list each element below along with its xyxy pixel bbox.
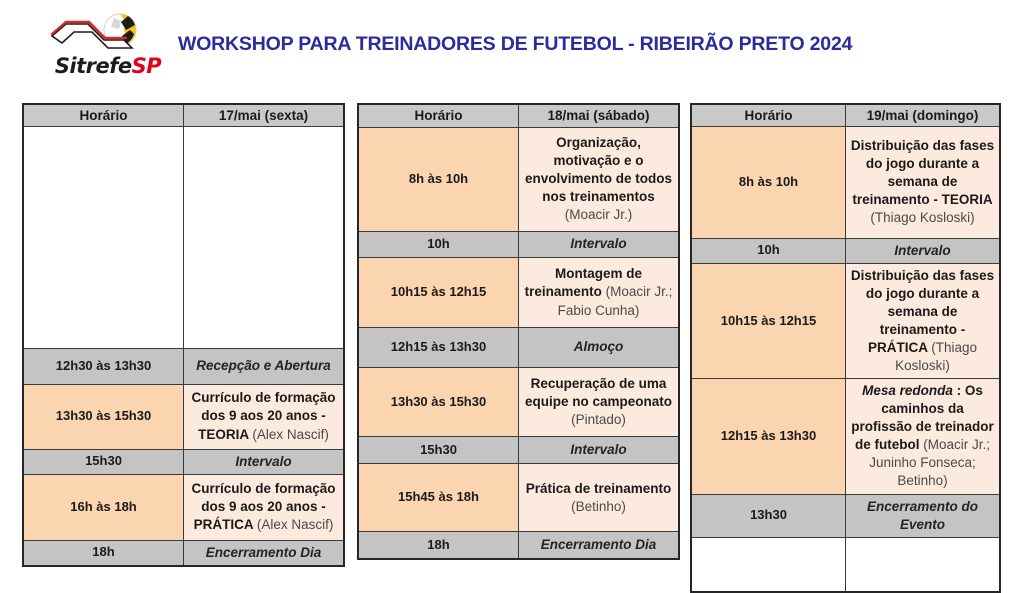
table-header-row: Horário19/mai (domingo) <box>691 104 1000 126</box>
table-sunday: Horário19/mai (domingo)8h às 10hDistribu… <box>690 103 1001 593</box>
cell-activity <box>184 126 345 348</box>
activity-text-segment: (Alex Nascif) <box>257 517 334 532</box>
activity-text-segment: (Moacir Jr.) <box>565 207 633 222</box>
activity-text-segment: Encerramento Dia <box>541 537 657 552</box>
table-header-row: Horário18/mai (sábado) <box>358 104 679 127</box>
table-saturday: Horário18/mai (sábado)8h às 10hOrganizaç… <box>357 103 680 560</box>
cell-time <box>23 126 184 348</box>
activity-text-segment: Prática de treinamento <box>526 481 672 496</box>
activity-text-segment: Recepção e Abertura <box>196 358 331 373</box>
table-header-row: Horário17/mai (sexta) <box>23 104 344 126</box>
table-row: 12h15 às 13h30Almoço <box>358 327 679 367</box>
cell-activity: Intervalo <box>519 231 680 258</box>
activity-text-segment: (Pintado) <box>571 412 626 427</box>
activity-text-segment: Intervalo <box>235 454 291 469</box>
table-row: 15h30Intervalo <box>23 449 344 474</box>
schedule-tables-container: Horário17/mai (sexta)12h30 às 13h30Recep… <box>0 103 1024 568</box>
cell-activity: Recepção e Abertura <box>184 348 345 384</box>
logo-word-sp: SP <box>132 54 162 78</box>
cell-time: 10h <box>358 231 519 258</box>
table-row: 18hEncerramento Dia <box>358 532 679 559</box>
cell-activity: Almoço <box>519 327 680 367</box>
table-row <box>691 537 1000 592</box>
column-header-day: 18/mai (sábado) <box>519 104 680 127</box>
cell-activity: Intervalo <box>519 437 680 464</box>
activity-text-segment: Intervalo <box>894 243 950 258</box>
cell-activity: Distribuição das fases do jogo durante a… <box>846 263 1001 378</box>
activity-text-segment: Intervalo <box>570 236 626 251</box>
cell-activity: Encerramento do Evento <box>846 494 1001 537</box>
cell-time: 15h30 <box>358 437 519 464</box>
table-row: 13h30 às 15h30Recuperação de uma equipe … <box>358 368 679 437</box>
cell-activity: Prática de treinamento (Betinho) <box>519 464 680 532</box>
cell-time: 8h às 10h <box>691 126 846 238</box>
activity-text-segment: Encerramento do Evento <box>867 499 978 532</box>
activity-text-segment: (Thiago Kosloski) <box>870 210 974 225</box>
activity-text-segment: (Alex Nascif) <box>252 427 329 442</box>
activity-text-segment: Recuperação de uma equipe no campeonato <box>525 376 672 409</box>
cell-time: 10h <box>691 238 846 263</box>
cell-time: 13h30 às 15h30 <box>358 368 519 437</box>
cell-activity: Organização, motivação e o envolvimento … <box>519 127 680 231</box>
cell-activity <box>846 537 1001 592</box>
column-header-time: Horário <box>23 104 184 126</box>
cell-time: 12h30 às 13h30 <box>23 348 184 384</box>
table-row: 18hEncerramento Dia <box>23 540 344 566</box>
cell-time: 8h às 10h <box>358 127 519 231</box>
cell-time: 18h <box>358 532 519 559</box>
column-header-time: Horário <box>691 104 846 126</box>
column-header-day: 17/mai (sexta) <box>184 104 345 126</box>
table-row: 12h30 às 13h30Recepção e Abertura <box>23 348 344 384</box>
cell-activity: Currículo de formação dos 9 aos 20 anos … <box>184 474 345 540</box>
cell-time: 18h <box>23 540 184 566</box>
table-row: 10hIntervalo <box>691 238 1000 263</box>
cell-time: 16h às 18h <box>23 474 184 540</box>
cell-activity: Intervalo <box>846 238 1001 263</box>
cell-activity: Mesa redonda : Os caminhos da profissão … <box>846 379 1001 494</box>
table-row: 16h às 18hCurrículo de formação dos 9 ao… <box>23 474 344 540</box>
table-row: 13h30 às 15h30Currículo de formação dos … <box>23 384 344 449</box>
cell-time: 12h15 às 13h30 <box>691 379 846 494</box>
table-row <box>23 126 344 348</box>
cell-time: 10h15 às 12h15 <box>691 263 846 378</box>
activity-text-segment: Intervalo <box>570 442 626 457</box>
page-title: WORKSHOP PARA TREINADORES DE FUTEBOL - R… <box>178 33 852 56</box>
cell-activity: Montagem de treinamento (Moacir Jr.; Fab… <box>519 258 680 327</box>
table-friday: Horário17/mai (sexta)12h30 às 13h30Recep… <box>22 103 345 567</box>
activity-text-segment: Organização, motivação e o envolvimento … <box>525 135 672 204</box>
cell-activity: Encerramento Dia <box>519 532 680 559</box>
cell-time: 15h30 <box>23 449 184 474</box>
cell-time: 12h15 às 13h30 <box>358 327 519 367</box>
cell-time: 13h30 às 15h30 <box>23 384 184 449</box>
table-row: 15h30Intervalo <box>358 437 679 464</box>
cell-activity: Recuperação de uma equipe no campeonato … <box>519 368 680 437</box>
cell-time: 10h15 às 12h15 <box>358 258 519 327</box>
cell-activity: Encerramento Dia <box>184 540 345 566</box>
cell-activity: Distribuição das fases do jogo durante a… <box>846 126 1001 238</box>
activity-text-segment: Distribuição das fases do jogo durante a… <box>851 138 994 207</box>
sitrefesp-logo: SitrefeSP <box>38 12 178 90</box>
activity-text-segment: (Betinho) <box>571 499 626 514</box>
table-row: 15h45 às 18hPrática de treinamento (Beti… <box>358 464 679 532</box>
cell-time: 13h30 <box>691 494 846 537</box>
activity-text-segment: Mesa redonda <box>862 383 957 398</box>
cell-activity: Intervalo <box>184 449 345 474</box>
table-row: 10h15 às 12h15Distribuição das fases do … <box>691 263 1000 378</box>
column-header-day: 19/mai (domingo) <box>846 104 1001 126</box>
activity-text-segment: Encerramento Dia <box>206 545 322 560</box>
cell-activity: Currículo de formação dos 9 aos 20 anos … <box>184 384 345 449</box>
table-row: 10hIntervalo <box>358 231 679 258</box>
activity-text-segment: Almoço <box>574 339 624 354</box>
cell-time: 15h45 às 18h <box>358 464 519 532</box>
table-row: 8h às 10hDistribuição das fases do jogo … <box>691 126 1000 238</box>
column-header-time: Horário <box>358 104 519 127</box>
table-row: 13h30Encerramento do Evento <box>691 494 1000 537</box>
logo-word-sitrefe: Sitrefe <box>55 54 132 78</box>
cell-time <box>691 537 846 592</box>
logo-wordmark: SitrefeSP <box>38 56 178 77</box>
table-row: 10h15 às 12h15Montagem de treinamento (M… <box>358 258 679 327</box>
table-row: 12h15 às 13h30Mesa redonda : Os caminhos… <box>691 379 1000 494</box>
page-header: SitrefeSP WORKSHOP PARA TREINADORES DE F… <box>0 0 1024 100</box>
table-row: 8h às 10hOrganização, motivação e o envo… <box>358 127 679 231</box>
